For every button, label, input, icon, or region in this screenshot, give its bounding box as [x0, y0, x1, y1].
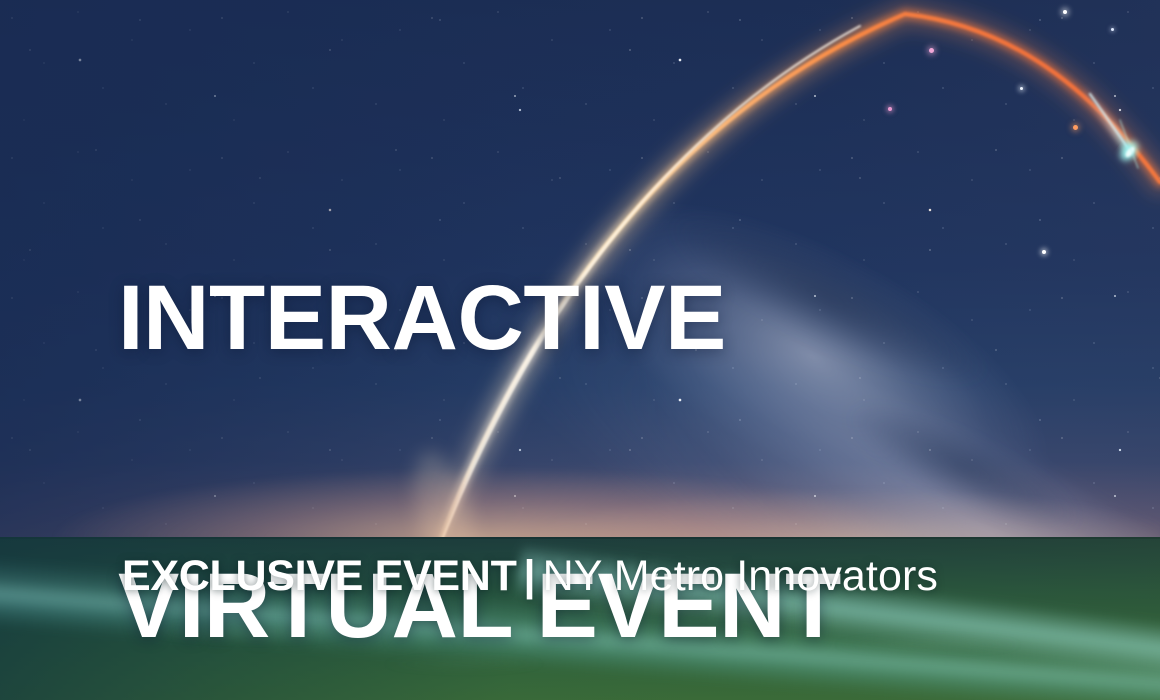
- event-subtitle: EXCLUSIVE EVENT|NY Metro Innovators: [122, 551, 938, 601]
- page-title: INTERACTIVE VIRTUAL EVENT: [118, 78, 841, 700]
- subtitle-separator: |: [517, 552, 543, 600]
- headline-line-1: INTERACTIVE: [118, 270, 841, 366]
- audience-label: NY Metro Innovators: [543, 552, 938, 600]
- event-promo-banner: INTERACTIVE VIRTUAL EVENT EXCLUSIVE EVEN…: [0, 0, 1160, 700]
- exclusive-event-label: EXCLUSIVE EVENT: [122, 552, 517, 600]
